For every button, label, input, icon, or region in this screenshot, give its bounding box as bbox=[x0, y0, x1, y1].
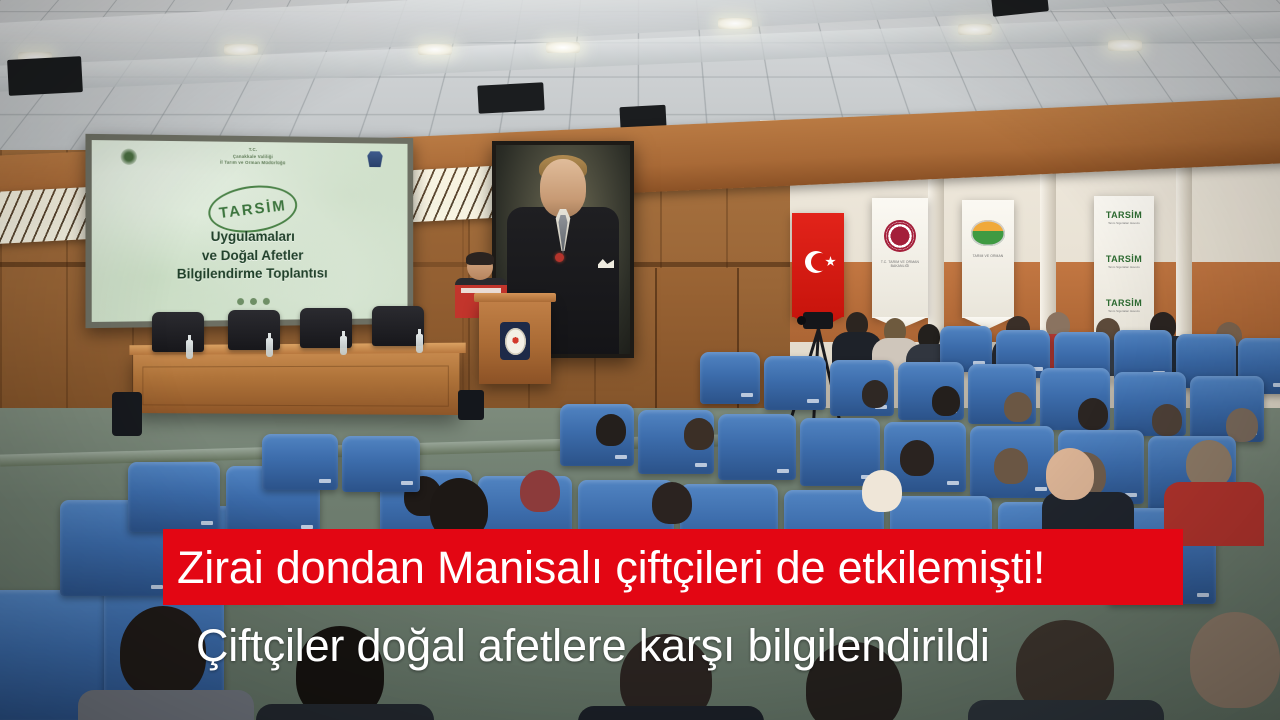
headline-text: Zirai dondan Manisalı çiftçileri de etki… bbox=[177, 545, 1045, 590]
water-bottle bbox=[266, 338, 273, 357]
tarsim-banner-label: TARSİM bbox=[1094, 298, 1154, 308]
subheadline-text: Çiftçiler doğal afetlere karşı bilgilend… bbox=[196, 623, 990, 668]
tarsim-banner-label: TARSİM bbox=[1094, 210, 1154, 220]
audience-head bbox=[862, 380, 888, 408]
ceiling-light bbox=[1108, 40, 1142, 51]
water-bottle bbox=[340, 336, 347, 355]
audience-head bbox=[994, 448, 1028, 484]
agriculture-emblem-icon bbox=[971, 220, 1005, 246]
audience-seat bbox=[342, 436, 420, 492]
turkish-flag-banner bbox=[792, 213, 844, 317]
portrait-face bbox=[540, 159, 586, 217]
audience-head bbox=[684, 418, 714, 450]
panel-table bbox=[133, 351, 459, 415]
audience-head bbox=[652, 482, 692, 524]
audience-head bbox=[862, 470, 902, 512]
audience-head bbox=[1046, 448, 1094, 500]
podium bbox=[479, 300, 551, 384]
audience-head bbox=[1078, 398, 1108, 430]
agriculture-banner-label: TARIM VE ORMAN bbox=[962, 254, 1014, 258]
slide-title-line1: Uygulamaları bbox=[92, 228, 408, 247]
tarsim-banner-sub: Tarım Sigortaları Havuzu bbox=[1094, 221, 1154, 225]
audience-seat bbox=[262, 434, 338, 490]
water-bottle bbox=[186, 340, 193, 359]
ceiling-vent bbox=[477, 82, 544, 113]
tarsim-banner-sub: Tarım Sigortaları Havuzu bbox=[1094, 265, 1154, 269]
slide-header: T.C. Çanakkale Valiliği İl Tarım ve Orma… bbox=[92, 145, 408, 168]
ceiling-light bbox=[718, 18, 752, 29]
bag bbox=[112, 392, 142, 436]
audience-shoulders bbox=[256, 704, 434, 720]
projection-screen: T.C. Çanakkale Valiliği İl Tarım ve Orma… bbox=[85, 134, 413, 328]
agriculture-banner: TARIM VE ORMAN bbox=[962, 200, 1014, 318]
ministry-banner-label: T.C. TARIM VE ORMAN BAKANLIĞI bbox=[872, 260, 928, 268]
audience-head bbox=[596, 414, 626, 446]
ministry-emblem-icon bbox=[884, 220, 916, 252]
audience-shoulders bbox=[78, 690, 254, 720]
video-camera-icon bbox=[803, 312, 833, 329]
slide-title-line2: ve Doğal Afetler bbox=[92, 246, 408, 266]
audience-seat bbox=[718, 414, 796, 480]
tarsim-banner: TARSİM Tarım Sigortaları Havuzu TARSİM T… bbox=[1094, 196, 1154, 332]
ceiling-light bbox=[418, 44, 452, 55]
ceiling-light bbox=[958, 24, 992, 35]
presentation-slide: T.C. Çanakkale Valiliği İl Tarım ve Orma… bbox=[92, 140, 408, 322]
subheadline: Çiftçiler doğal afetlere karşı bilgilend… bbox=[196, 612, 1206, 678]
ceiling-light bbox=[546, 42, 580, 53]
podium-top bbox=[474, 293, 556, 302]
crescent-icon bbox=[805, 251, 827, 273]
water-bottle bbox=[416, 334, 423, 353]
audience-head bbox=[120, 606, 206, 698]
slide-title: Uygulamaları ve Doğal Afetler Bilgilendi… bbox=[92, 228, 408, 285]
audience-head bbox=[900, 440, 934, 476]
panel-chair bbox=[152, 312, 204, 352]
slide-dots bbox=[92, 291, 408, 312]
audience-head bbox=[520, 470, 560, 512]
ministry-banner: T.C. TARIM VE ORMAN BAKANLIĞI bbox=[872, 198, 928, 318]
tarsim-banner-label: TARSİM bbox=[1094, 254, 1154, 264]
audience-seat bbox=[764, 356, 826, 410]
audience-head bbox=[932, 386, 960, 416]
podium-seal-icon bbox=[500, 322, 530, 360]
table-front-panel bbox=[142, 365, 448, 406]
ceiling-vent bbox=[7, 56, 83, 96]
portrait-medal-icon bbox=[555, 253, 564, 262]
speaker-hair bbox=[466, 252, 494, 265]
slide-title-line3: Bilgilendirme Toplantısı bbox=[92, 265, 408, 286]
audience-seat bbox=[128, 462, 220, 532]
headline-banner: Zirai dondan Manisalı çiftçileri de etki… bbox=[163, 529, 1183, 605]
ceiling-light bbox=[224, 44, 258, 55]
audience-seat bbox=[700, 352, 760, 404]
audience-head bbox=[1186, 440, 1232, 488]
audience-head bbox=[1004, 392, 1032, 422]
bag bbox=[458, 390, 484, 420]
news-photo: T.C. Çanakkale Valiliği İl Tarım ve Orma… bbox=[0, 0, 1280, 720]
audience-shoulders bbox=[968, 700, 1164, 720]
tarsim-banner-sub: Tarım Sigortaları Havuzu bbox=[1094, 309, 1154, 313]
audience-shoulders bbox=[578, 706, 764, 720]
audience-head bbox=[1152, 404, 1182, 436]
